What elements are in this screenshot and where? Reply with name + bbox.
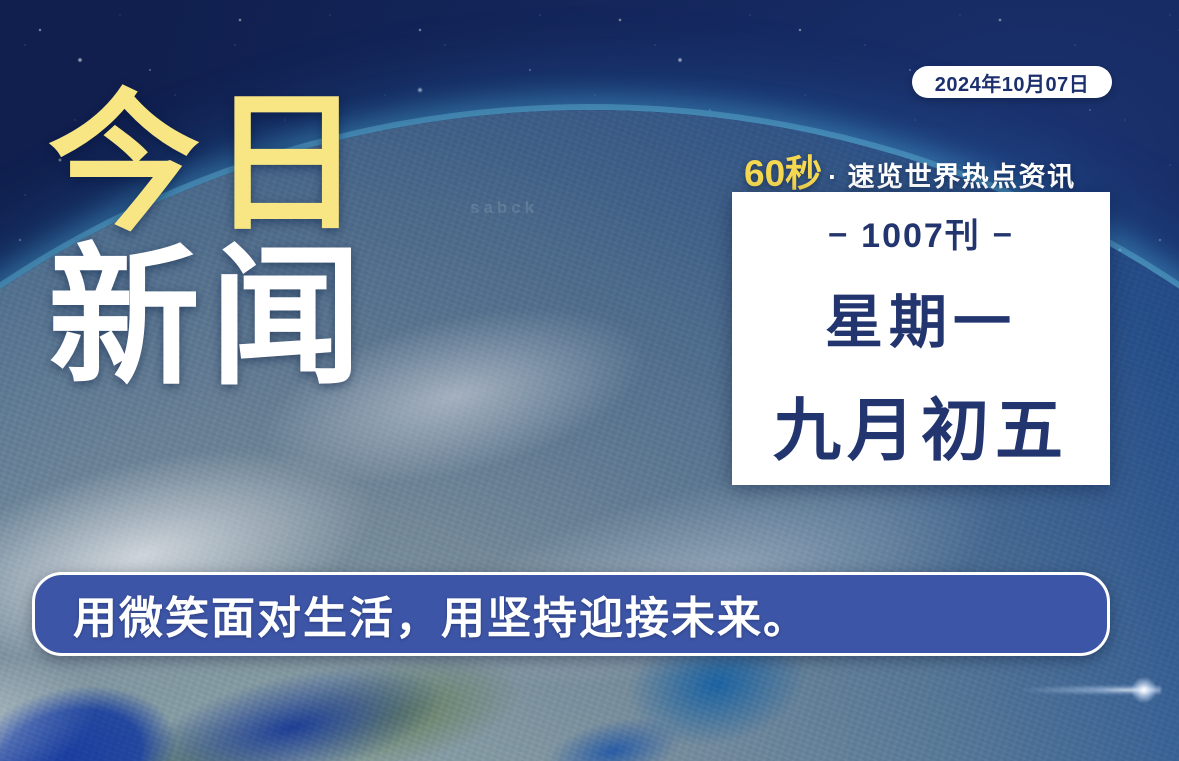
weekday-label: 星期一	[825, 275, 1017, 359]
quote-banner: 用微笑面对生活，用坚持迎接未来。	[32, 572, 1110, 656]
date-badge-label: 2024年10月07日	[935, 68, 1089, 97]
page-title: 今日 新闻	[48, 92, 372, 392]
tagline-description: · 速览世界热点资讯	[828, 155, 1076, 194]
quote-text: 用微笑面对生活，用坚持迎接未来。	[35, 582, 809, 646]
issue-line: –1007刊–	[816, 208, 1025, 257]
tagline-duration: 60秒	[744, 143, 822, 197]
lens-flare-core-icon	[1131, 677, 1157, 703]
lunar-date-label: 九月初五	[773, 375, 1069, 474]
issue-info-card: –1007刊– 星期一 九月初五	[732, 192, 1110, 485]
title-line-today: 今日	[48, 92, 372, 238]
issue-number: 1007刊	[861, 217, 981, 255]
issue-dash-right: –	[981, 214, 1026, 252]
tagline: 60秒 · 速览世界热点资讯	[744, 143, 1076, 197]
issue-dash-left: –	[816, 214, 861, 252]
news-poster: sabck 今日 新闻 2024年10月07日 60秒 · 速览世界热点资讯 –…	[0, 0, 1179, 761]
watermark: sabck	[470, 198, 538, 218]
date-badge: 2024年10月07日	[912, 66, 1112, 98]
title-line-news: 新闻	[48, 246, 372, 392]
